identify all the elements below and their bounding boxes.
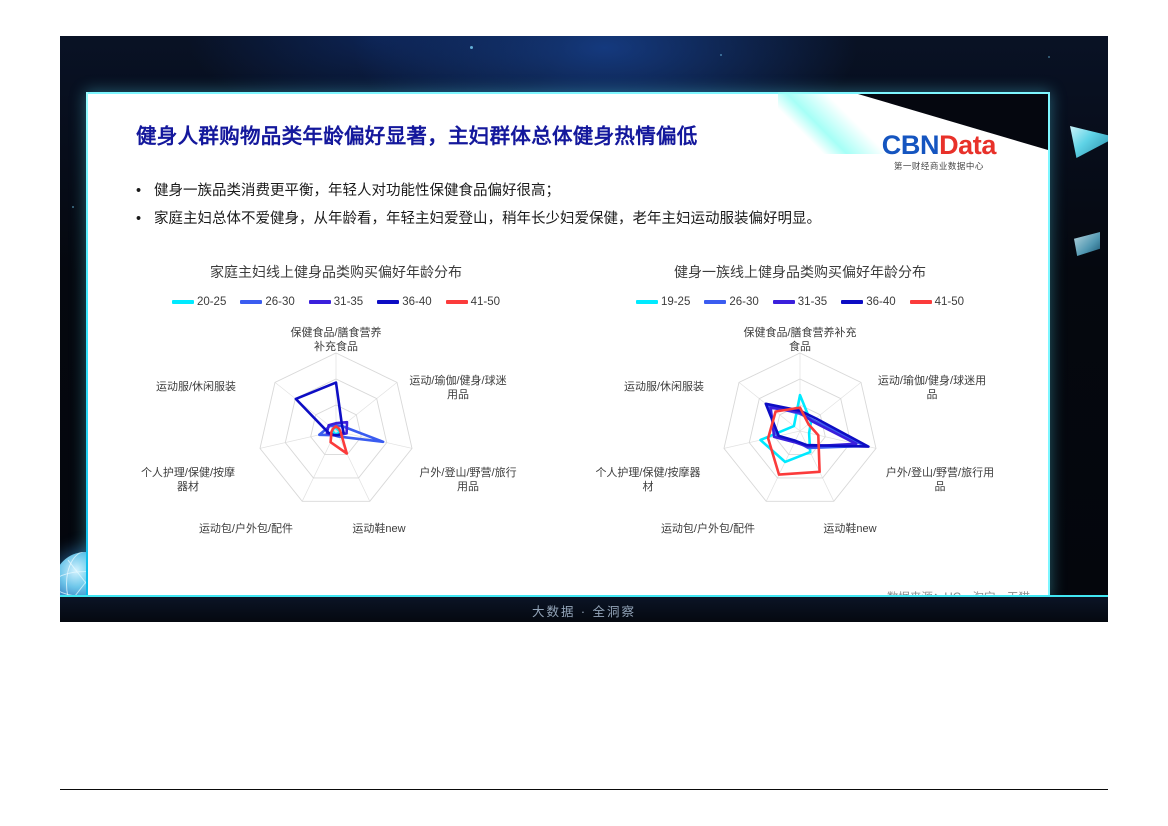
footer-slogan: 大数据 · 全洞察 (60, 601, 1108, 620)
radar-svg: 保健食品/膳食营养补充食品运动/瑜伽/健身/球迷用品户外/登山/野营/旅行用品运… (560, 316, 1040, 546)
legend-item-26-30: 26-30 (240, 296, 294, 308)
bullet-marker: • (136, 178, 154, 206)
chart-title: 健身一族线上健身品类购买偏好年龄分布 (560, 262, 1040, 282)
legend-swatch-icon (446, 300, 468, 304)
legend-item-31-35: 31-35 (309, 296, 363, 308)
legend-item-41-50: 41-50 (910, 296, 964, 308)
page-title: 健身人群购物品类年龄偏好显著，主妇群体总体健身热情偏低 (136, 119, 698, 149)
radar-axis-spoke (336, 382, 397, 431)
radar-axis-label: 运动包/户外包/配件 (199, 521, 293, 535)
radar-axis-label: 运动包/户外包/配件 (661, 521, 755, 535)
list-item: • 健身一族品类消费更平衡，年轻人对功能性保健食品偏好很高； (136, 178, 1016, 206)
radar-axis-spoke (260, 431, 336, 448)
legend-label: 31-35 (798, 296, 827, 308)
logo-text-cbn: CBN (882, 130, 939, 160)
legend-swatch-icon (309, 300, 331, 304)
legend-label: 26-30 (729, 296, 758, 308)
legend-item-19-25: 19-25 (636, 296, 690, 308)
legend-item-36-40: 36-40 (841, 296, 895, 308)
legend-swatch-icon (636, 300, 658, 304)
legend-swatch-icon (172, 300, 194, 304)
page-divider-rule (60, 789, 1108, 790)
corner-glow-decoration (778, 92, 898, 154)
radar-axis-label: 保健食品/膳食营养补充食品 (290, 325, 381, 353)
cbndata-logo: CBNData 第一财经商业数据中心 (882, 132, 996, 171)
radar-plot: 保健食品/膳食营养补充食品运动/瑜伽/健身/球迷用品户外/登山/野营/旅行用品运… (96, 316, 576, 546)
star-speck (72, 206, 74, 208)
slide-footer-bar: 大数据 · 全洞察 (60, 595, 1108, 622)
bullet-text: 健身一族品类消费更平衡，年轻人对功能性保健食品偏好很高； (154, 178, 560, 206)
radar-axis-label: 运动/瑜伽/健身/球迷用品 (878, 373, 986, 401)
radar-axis-label: 个人护理/保健/按摩器材 (595, 465, 700, 493)
logo-subtitle: 第一财经商业数据中心 (882, 162, 996, 171)
star-speck (1048, 56, 1050, 58)
legend-item-20-25: 20-25 (172, 296, 226, 308)
legend-label: 41-50 (471, 296, 500, 308)
radar-axis-label: 个人护理/保健/按摩器材 (141, 465, 235, 493)
radar-svg: 保健食品/膳食营养补充食品运动/瑜伽/健身/球迷用品户外/登山/野营/旅行用品运… (96, 316, 576, 546)
radar-axis-label: 运动服/休闲服装 (624, 379, 704, 393)
legend-item-41-50: 41-50 (446, 296, 500, 308)
radar-axis-spoke (275, 382, 336, 431)
bullet-list: • 健身一族品类消费更平衡，年轻人对功能性保健食品偏好很高； • 家庭主妇总体不… (136, 178, 1016, 233)
radar-axis-label: 运动/瑜伽/健身/球迷用品 (409, 373, 506, 401)
chart-fitness: 健身一族线上健身品类购买偏好年龄分布 19-2526-3031-3536-404… (560, 262, 1040, 546)
legend-swatch-icon (773, 300, 795, 304)
legend-label: 20-25 (197, 296, 226, 308)
radar-axis-label: 户外/登山/野营/旅行用品 (419, 465, 516, 493)
legend-item-31-35: 31-35 (773, 296, 827, 308)
chart-title: 家庭主妇线上健身品类购买偏好年龄分布 (96, 262, 576, 282)
radar-axis-label: 运动服/休闲服装 (156, 379, 236, 393)
radar-axis-label: 运动鞋new (823, 521, 876, 535)
radar-axis-label: 运动鞋new (352, 521, 405, 535)
bullet-marker: • (136, 206, 154, 234)
radar-plot: 保健食品/膳食营养补充食品运动/瑜伽/健身/球迷用品户外/登山/野营/旅行用品运… (560, 316, 1040, 546)
legend-label: 19-25 (661, 296, 690, 308)
legend-swatch-icon (240, 300, 262, 304)
logo-text-data: Data (939, 130, 996, 160)
chart-housewife: 家庭主妇线上健身品类购买偏好年龄分布 20-2526-3031-3536-404… (96, 262, 576, 546)
radar-axis-label: 保健食品/膳食营养补充食品 (743, 325, 856, 353)
legend-swatch-icon (841, 300, 863, 304)
legend-swatch-icon (910, 300, 932, 304)
crystal-shard-icon (1074, 232, 1100, 256)
legend-swatch-icon (704, 300, 726, 304)
legend-item-26-30: 26-30 (704, 296, 758, 308)
legend-label: 36-40 (402, 296, 431, 308)
bullet-text: 家庭主妇总体不爱健身，从年龄看，年轻主妇爱登山，稍年长少妇爱保健，老年主妇运动服… (154, 206, 821, 234)
legend-label: 26-30 (265, 296, 294, 308)
legend-label: 36-40 (866, 296, 895, 308)
star-speck (720, 54, 722, 56)
legend-item-36-40: 36-40 (377, 296, 431, 308)
legend-label: 41-50 (935, 296, 964, 308)
chart-legend: 19-2526-3031-3536-4041-50 (560, 296, 1040, 308)
legend-swatch-icon (377, 300, 399, 304)
radar-axis-label: 户外/登山/野营/旅行用品 (886, 465, 994, 493)
slide-content-panel: CBNData 第一财经商业数据中心 健身人群购物品类年龄偏好显著，主妇群体总体… (88, 94, 1048, 597)
list-item: • 家庭主妇总体不爱健身，从年龄看，年轻主妇爱登山，稍年长少妇爱保健，老年主妇运… (136, 206, 1016, 234)
star-speck (470, 46, 473, 49)
radar-axis-spoke (800, 431, 834, 501)
legend-label: 31-35 (334, 296, 363, 308)
chart-legend: 20-2526-3031-3536-4041-50 (96, 296, 576, 308)
crystal-shard-icon (1070, 118, 1108, 158)
slide-canvas: CBNData 第一财经商业数据中心 健身人群购物品类年龄偏好显著，主妇群体总体… (60, 36, 1108, 622)
radar-axis-spoke (336, 431, 370, 501)
